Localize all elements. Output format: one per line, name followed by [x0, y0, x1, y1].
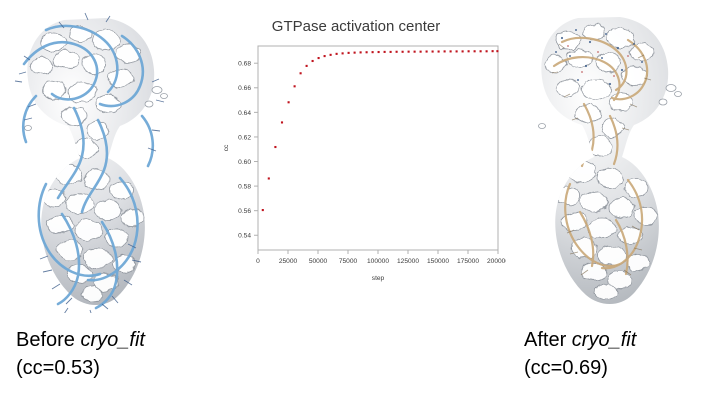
y-tick-label: 0.54: [238, 233, 251, 240]
y-tick-label: 0.62: [238, 134, 251, 141]
convergence-chart: GTPase activation center 0.540.560.580.6…: [206, 10, 506, 300]
data-point: [432, 50, 434, 52]
x-tick-label: 100000: [367, 258, 389, 265]
x-tick-label: 175000: [457, 258, 479, 265]
data-point: [496, 50, 498, 52]
data-point: [396, 51, 398, 53]
x-tick-label: 75000: [339, 258, 358, 265]
data-point: [450, 50, 452, 52]
data-point: [288, 101, 290, 103]
x-tick-label: 200000: [487, 258, 506, 265]
data-point: [262, 209, 264, 211]
data-point: [492, 50, 494, 52]
caption-after-prefix: After: [524, 329, 572, 351]
data-point: [294, 85, 296, 87]
data-point: [336, 53, 338, 55]
data-point: [378, 51, 380, 53]
data-point: [354, 52, 356, 54]
data-point: [462, 50, 464, 52]
density-map-after: [518, 8, 718, 313]
x-tick-label: 0: [256, 258, 260, 265]
caption-before-cc: (cc=0.53): [16, 354, 145, 382]
before-cryo-fit-structure-render: [2, 8, 202, 313]
data-point: [474, 50, 476, 52]
caption-before-tool: cryo_fit: [80, 329, 144, 351]
data-point: [281, 121, 283, 123]
y-tick-label: 0.56: [238, 208, 251, 215]
data-point: [324, 55, 326, 57]
y-tick-label: 0.64: [238, 110, 251, 117]
data-series: [262, 50, 499, 211]
data-point: [414, 51, 416, 53]
x-tick-label: 25000: [279, 258, 298, 265]
data-point: [480, 50, 482, 52]
data-point: [268, 177, 270, 179]
structure-panel-after: [518, 8, 718, 313]
data-point: [444, 50, 446, 52]
y-tick-label: 0.68: [238, 61, 251, 68]
data-point: [342, 52, 344, 54]
data-point: [420, 51, 422, 53]
data-point: [468, 50, 470, 52]
data-point: [456, 50, 458, 52]
structure-panel-before: [2, 8, 202, 313]
x-tick-label: 125000: [397, 258, 419, 265]
data-point: [486, 50, 488, 52]
y-axis-label: cc: [223, 144, 230, 151]
chart-plot-area: 0.540.560.580.600.620.640.660.6802500050…: [206, 38, 506, 296]
data-point: [318, 57, 320, 59]
x-axis-label: step: [372, 275, 385, 282]
caption-before: Before cryo_fit (cc=0.53): [16, 326, 145, 383]
caption-before-prefix: Before: [16, 329, 80, 351]
caption-after-cc: (cc=0.69): [524, 354, 636, 382]
data-point: [402, 51, 404, 53]
data-point: [306, 65, 308, 67]
data-point: [300, 72, 302, 74]
data-point: [348, 52, 350, 54]
plot-frame: [258, 46, 498, 250]
x-tick-label: 150000: [427, 258, 449, 265]
caption-after-tool: cryo_fit: [572, 329, 636, 351]
data-point: [408, 51, 410, 53]
data-point: [384, 51, 386, 53]
data-point: [330, 54, 332, 56]
caption-after: After cryo_fit (cc=0.69): [524, 326, 636, 383]
x-tick-label: 50000: [309, 258, 328, 265]
data-point: [372, 51, 374, 53]
y-tick-label: 0.60: [238, 159, 251, 166]
data-point: [438, 50, 440, 52]
y-tick-label: 0.58: [238, 183, 251, 190]
data-point: [360, 51, 362, 53]
after-cryo-fit-structure-render: [518, 8, 718, 313]
data-point: [366, 51, 368, 53]
data-point: [312, 60, 314, 62]
data-point: [390, 51, 392, 53]
chart-title: GTPase activation center: [206, 18, 506, 35]
data-point: [274, 146, 276, 148]
y-tick-label: 0.66: [238, 85, 251, 92]
data-point: [426, 50, 428, 52]
